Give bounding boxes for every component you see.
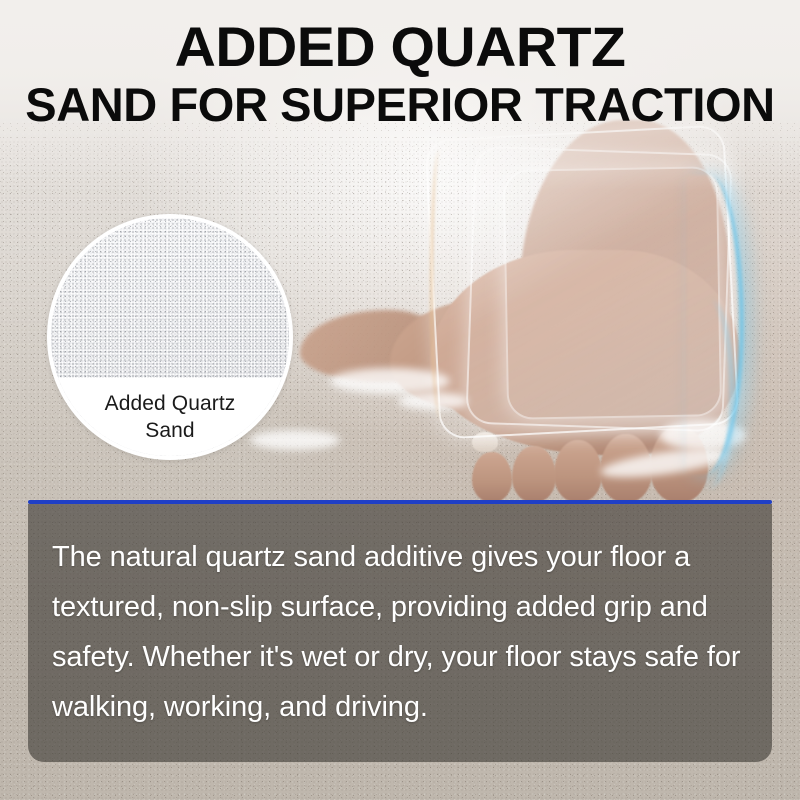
page-title: ADDED QUARTZ SAND FOR SUPERIOR TRACTION bbox=[0, 20, 800, 130]
toe-third bbox=[554, 440, 602, 502]
toe-little bbox=[472, 452, 512, 502]
inset-caption-line-1: Added Quartz bbox=[105, 390, 236, 417]
headline-line-1: ADDED QUARTZ bbox=[0, 20, 800, 74]
description-text: The natural quartz sand additive gives y… bbox=[52, 532, 748, 732]
inset-caption-line-2: Sand bbox=[145, 417, 194, 444]
headline-line-2: SAND FOR SUPERIOR TRACTION bbox=[0, 80, 800, 130]
inset-caption: Added Quartz Sand bbox=[51, 378, 289, 456]
quartz-sand-inset: Added Quartz Sand bbox=[47, 214, 293, 460]
shield-warm-edge-glow bbox=[430, 150, 446, 420]
description-panel: The natural quartz sand additive gives y… bbox=[28, 504, 772, 762]
toe-fourth bbox=[512, 446, 556, 502]
product-feature-banner: ADDED QUARTZ SAND FOR SUPERIOR TRACTION … bbox=[0, 0, 800, 800]
